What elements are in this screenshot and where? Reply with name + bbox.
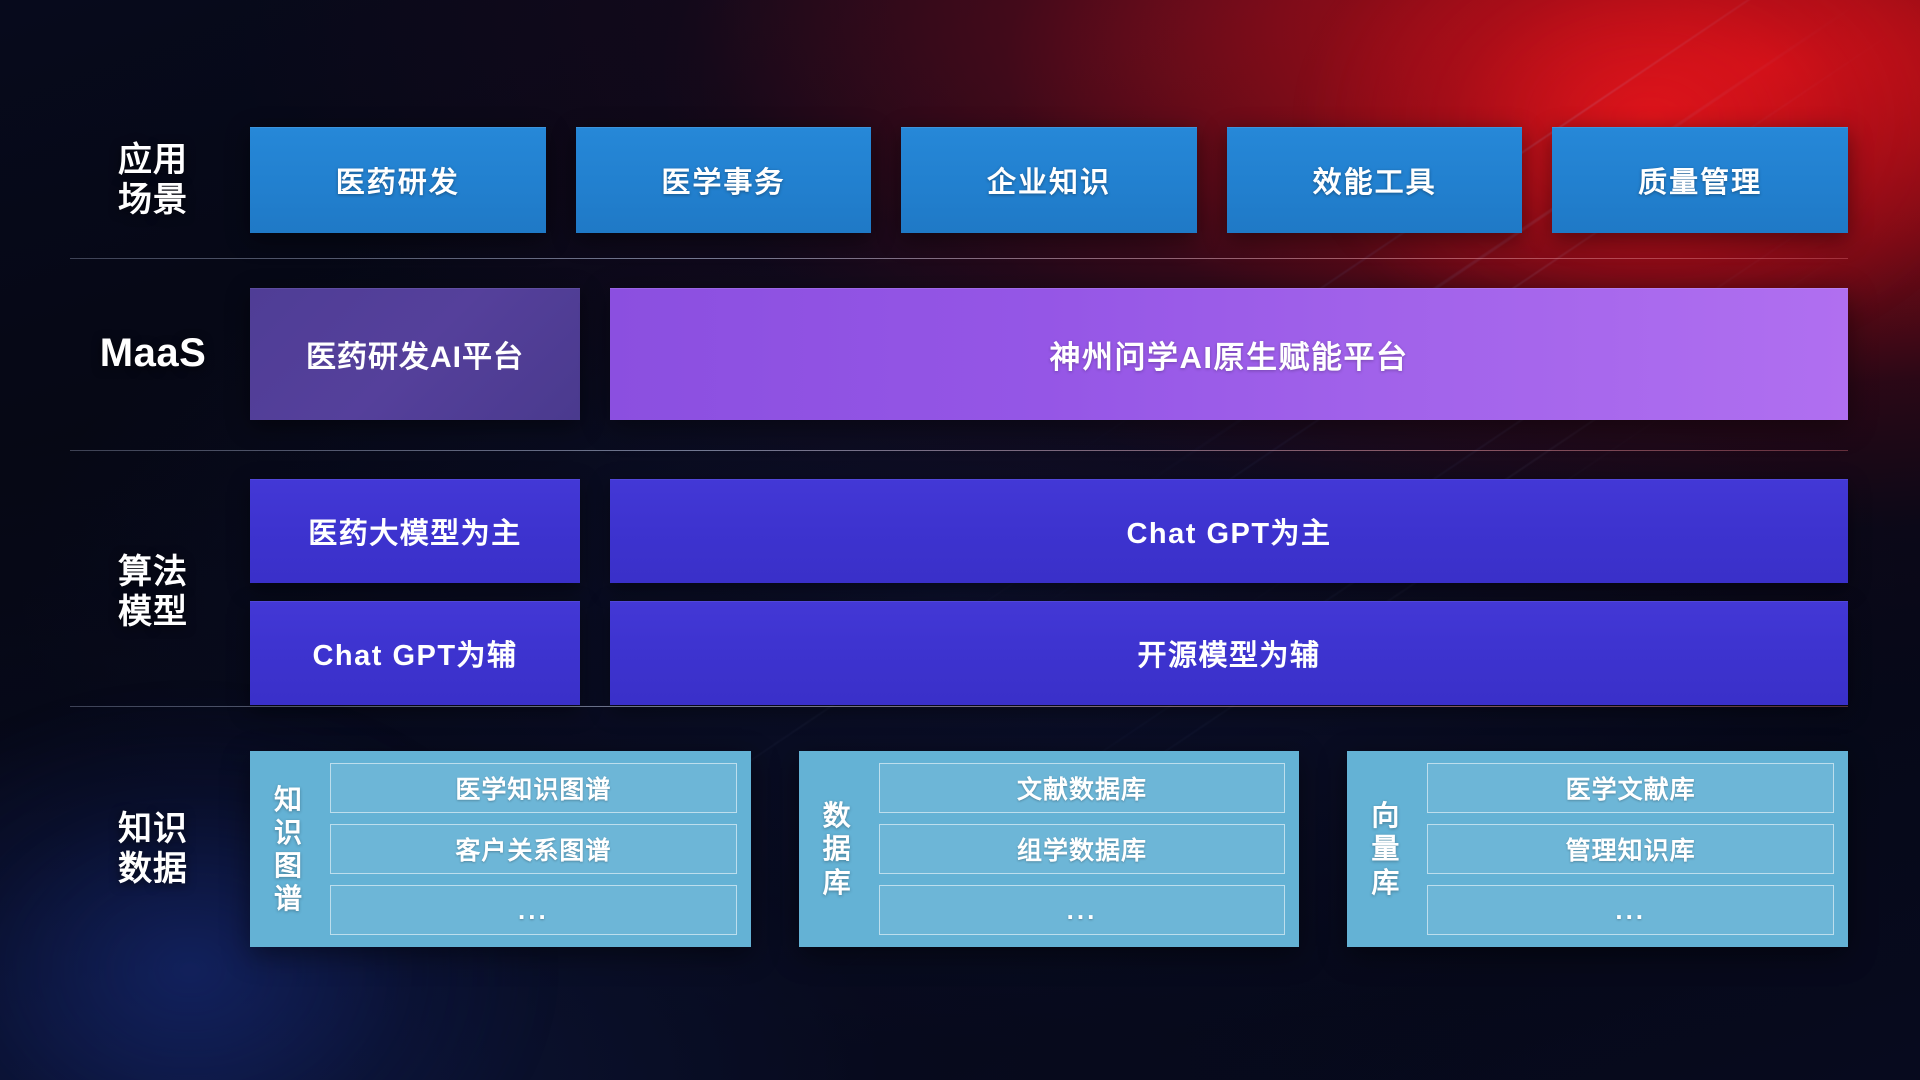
app-scenario-box-4[interactable]: 效能工具: [1227, 127, 1523, 233]
algo-box-pharma-large-model[interactable]: 医药大模型为主: [250, 479, 580, 583]
maas-right-label: 神州问学AI原生赋能平台: [1050, 332, 1409, 377]
knowledge-item[interactable]: 管理知识库: [1427, 824, 1834, 874]
algo-box-chatgpt-primary[interactable]: Chat GPT为主: [610, 479, 1848, 583]
app-scenario-label: 质量管理: [1638, 159, 1762, 201]
layer-label-knowledge-data: 知识 数据: [70, 809, 250, 889]
layer-label-algorithm-models: 算法 模型: [70, 552, 250, 632]
algo-box-chatgpt-auxiliary[interactable]: Chat GPT为辅: [250, 601, 580, 705]
app-scenario-box-2[interactable]: 医学事务: [576, 127, 872, 233]
knowledge-item[interactable]: 医学知识图谱: [330, 763, 737, 813]
app-scenario-box-3[interactable]: 企业知识: [901, 127, 1197, 233]
knowledge-group-database[interactable]: 数 据 库 文献数据库 组学数据库 ...: [799, 751, 1300, 947]
app-scenario-box-1[interactable]: 医药研发: [250, 127, 546, 233]
algo-label: Chat GPT为辅: [312, 632, 517, 674]
algo-label: 医药大模型为主: [308, 510, 522, 552]
knowledge-group-vector-store[interactable]: 向 量 库 医学文献库 管理知识库 ...: [1347, 751, 1848, 947]
divider-after-maas-layer: [70, 450, 1848, 451]
app-scenario-label: 医学事务: [661, 159, 785, 201]
maas-boxes: 医药研发AI平台 神州问学AI原生赋能平台: [250, 288, 1848, 420]
algorithm-model-row-secondary: Chat GPT为辅 开源模型为辅: [250, 601, 1848, 705]
knowledge-group-items: 医学知识图谱 客户关系图谱 ...: [330, 763, 737, 935]
knowledge-group-title: 知 识 图 谱: [260, 763, 316, 935]
divider-after-application-layer: [70, 258, 1848, 259]
maas-box-shenzhou-wenxue-platform[interactable]: 神州问学AI原生赋能平台: [610, 288, 1848, 420]
knowledge-data-groups: 知 识 图 谱 医学知识图谱 客户关系图谱 ... 数 据 库 文献数据库 组学…: [250, 751, 1848, 947]
knowledge-item[interactable]: 组学数据库: [879, 824, 1286, 874]
algorithm-model-row-primary: 医药大模型为主 Chat GPT为主: [250, 479, 1848, 583]
layer-label-application-scenarios: 应用 场景: [70, 140, 250, 220]
streak-line: [1116, 0, 1864, 504]
algo-label: 开源模型为辅: [1137, 632, 1320, 674]
algo-label: Chat GPT为主: [1126, 510, 1331, 552]
divider-after-algorithm-layer: [70, 706, 1848, 707]
layer-algorithm-models: 算法 模型 医药大模型为主 Chat GPT为主 Chat GPT为辅 开源模: [70, 468, 1848, 716]
application-scenario-boxes: 医药研发 医学事务 企业知识 效能工具 质量管理: [250, 127, 1848, 233]
app-scenario-box-5[interactable]: 质量管理: [1552, 127, 1848, 233]
app-scenario-label: 效能工具: [1313, 159, 1437, 201]
app-scenario-label: 医药研发: [336, 159, 460, 201]
layer-maas: MaaS 医药研发AI平台 神州问学AI原生赋能平台: [70, 288, 1848, 420]
knowledge-group-knowledge-graph[interactable]: 知 识 图 谱 医学知识图谱 客户关系图谱 ...: [250, 751, 751, 947]
layer-label-maas: MaaS: [70, 330, 250, 377]
algorithm-model-rows: 医药大模型为主 Chat GPT为主 Chat GPT为辅 开源模型为辅: [250, 479, 1848, 705]
knowledge-group-items: 文献数据库 组学数据库 ...: [879, 763, 1286, 935]
knowledge-group-title: 向 量 库: [1357, 763, 1413, 935]
architecture-diagram-slide: 应用 场景 医药研发 医学事务 企业知识 效能工具 质量管理: [0, 0, 1920, 1080]
knowledge-group-title: 数 据 库: [809, 763, 865, 935]
knowledge-item[interactable]: 医学文献库: [1427, 763, 1834, 813]
layer-application-scenarios: 应用 场景 医药研发 医学事务 企业知识 效能工具 质量管理: [70, 115, 1848, 245]
knowledge-item-more[interactable]: ...: [1427, 885, 1834, 935]
knowledge-item[interactable]: 客户关系图谱: [330, 824, 737, 874]
algo-box-opensource-auxiliary[interactable]: 开源模型为辅: [610, 601, 1848, 705]
maas-left-label: 医药研发AI平台: [306, 332, 524, 376]
maas-box-pharma-ai-platform[interactable]: 医药研发AI平台: [250, 288, 580, 420]
layer-knowledge-data: 知识 数据 知 识 图 谱 医学知识图谱 客户关系图谱 ... 数 据 库 文献…: [70, 724, 1848, 974]
app-scenario-label: 企业知识: [987, 159, 1111, 201]
knowledge-item-more[interactable]: ...: [879, 885, 1286, 935]
knowledge-item[interactable]: 文献数据库: [879, 763, 1286, 813]
knowledge-item-more[interactable]: ...: [330, 885, 737, 935]
knowledge-group-items: 医学文献库 管理知识库 ...: [1427, 763, 1834, 935]
